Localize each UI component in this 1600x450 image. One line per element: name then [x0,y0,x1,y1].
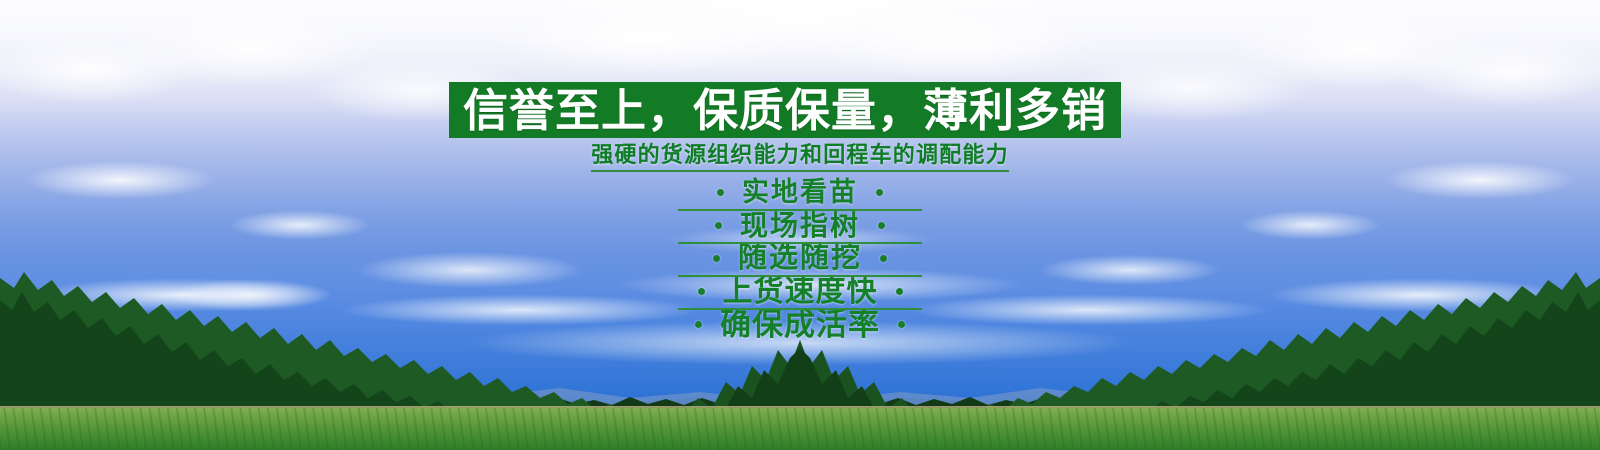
feature-label: 现场指树 [740,212,860,240]
bullet-dot-icon [896,288,903,295]
feature-item: 确保成活率 [0,308,1600,341]
bullet-dot-icon [713,255,720,262]
bullet-dot-icon [880,255,887,262]
banner-subtitle: 强硬的货源组织能力和回程车的调配能力 [591,143,1009,172]
banner-title: 信誉至上，保质保量，薄利多销 [463,88,1107,133]
feature-item: 现场指树 [0,209,1600,242]
subtitle-container: 强硬的货源组织能力和回程车的调配能力 [0,143,1600,172]
banner-content: 信誉至上，保质保量，薄利多销 强硬的货源组织能力和回程车的调配能力 实地看苗 现… [0,0,1600,450]
feature-label: 确保成活率 [720,309,880,340]
bullet-dot-icon [898,321,905,328]
feature-label: 上货速度快 [723,277,878,307]
feature-list: 实地看苗 现场指树 随选随挖 上货速度快 确保成活率 [0,176,1600,341]
feature-item: 实地看苗 [0,176,1600,209]
title-banner-bar: 信誉至上，保质保量，薄利多销 [449,82,1121,138]
feature-item: 随选随挖 [0,242,1600,275]
promotional-banner: 信誉至上，保质保量，薄利多销 强硬的货源组织能力和回程车的调配能力 实地看苗 现… [0,0,1600,450]
feature-label: 实地看苗 [742,179,858,206]
bullet-dot-icon [717,189,724,196]
bullet-dot-icon [878,222,885,229]
bullet-dot-icon [876,189,883,196]
feature-item: 上货速度快 [0,275,1600,308]
feature-label: 随选随挖 [738,244,862,273]
bullet-dot-icon [698,288,705,295]
bullet-dot-icon [715,222,722,229]
bullet-dot-icon [695,321,702,328]
